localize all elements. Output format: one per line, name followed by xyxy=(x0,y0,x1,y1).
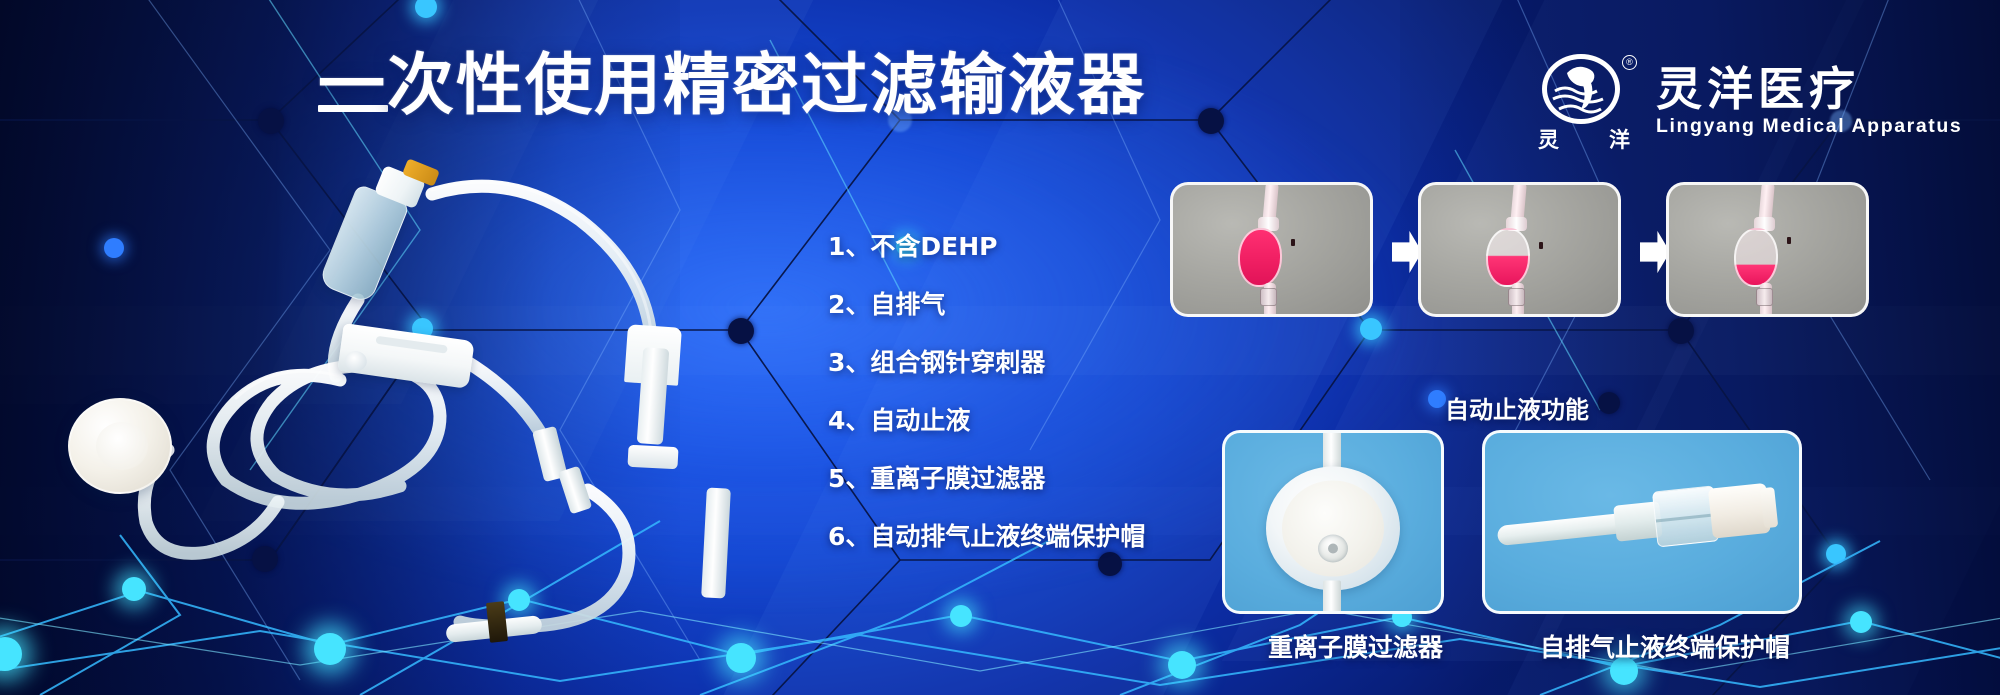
page-title: 一次性使用精密过滤输液器 xyxy=(318,52,1146,119)
feature-item: 4、自动止液 xyxy=(828,406,1145,464)
filter-disc xyxy=(68,398,172,494)
auto-stop-frame-3 xyxy=(1666,182,1869,317)
network-node xyxy=(1360,318,1382,340)
caption-self-venting-end-cap: 自排气止液终端保护帽 xyxy=(1540,628,1790,664)
auto-stop-frame-1 xyxy=(1170,182,1373,317)
auto-stop-caption: 自动止液功能 xyxy=(1445,390,1589,425)
luer-end-cap-icon xyxy=(1494,466,1791,578)
feature-item: 1、不含DEHP xyxy=(828,232,1145,290)
feature-item: 6、自动排气止液终端保护帽 xyxy=(828,522,1145,580)
feature-item: 3、组合钢针穿刺器 xyxy=(828,348,1145,406)
network-node xyxy=(1198,108,1224,134)
panel-heavy-ion-membrane-filter xyxy=(1222,430,1444,614)
caption-heavy-ion-membrane-filter: 重离子膜过滤器 xyxy=(1268,628,1443,664)
emblem-char-left: 灵 xyxy=(1538,124,1559,154)
network-node xyxy=(1428,390,1446,408)
network-node xyxy=(258,108,284,134)
feature-item: 5、重离子膜过滤器 xyxy=(828,464,1145,522)
product-banner: 一次性使用精密过滤输液器 ® 灵 洋 灵洋医疗 Lingyang Medical… xyxy=(0,0,2000,695)
company-name-en: Lingyang Medical Apparatus xyxy=(1656,115,1962,138)
network-node xyxy=(1598,392,1620,414)
product-photo-infusion-set xyxy=(40,150,800,670)
brand-logo: ® 灵 洋 灵洋医疗 Lingyang Medical Apparatus xyxy=(1534,52,1962,152)
needle-clip xyxy=(627,445,678,470)
emblem-char-right: 洋 xyxy=(1609,124,1630,154)
auto-stop-frame-2 xyxy=(1418,182,1621,317)
network-node xyxy=(1668,318,1694,344)
panel-self-venting-end-cap xyxy=(1482,430,1802,614)
lingyang-circular-wave-emblem-icon xyxy=(1542,54,1620,124)
filter-disc-icon xyxy=(1258,430,1408,614)
feature-list: 1、不含DEHP 2、自排气 3、组合钢针穿刺器 4、自动止液 5、重离子膜过滤… xyxy=(828,232,1145,580)
registered-trademark-icon: ® xyxy=(1622,55,1637,70)
company-name-cn: 灵洋医疗 xyxy=(1656,66,1962,113)
feature-item: 2、自排气 xyxy=(828,290,1145,348)
